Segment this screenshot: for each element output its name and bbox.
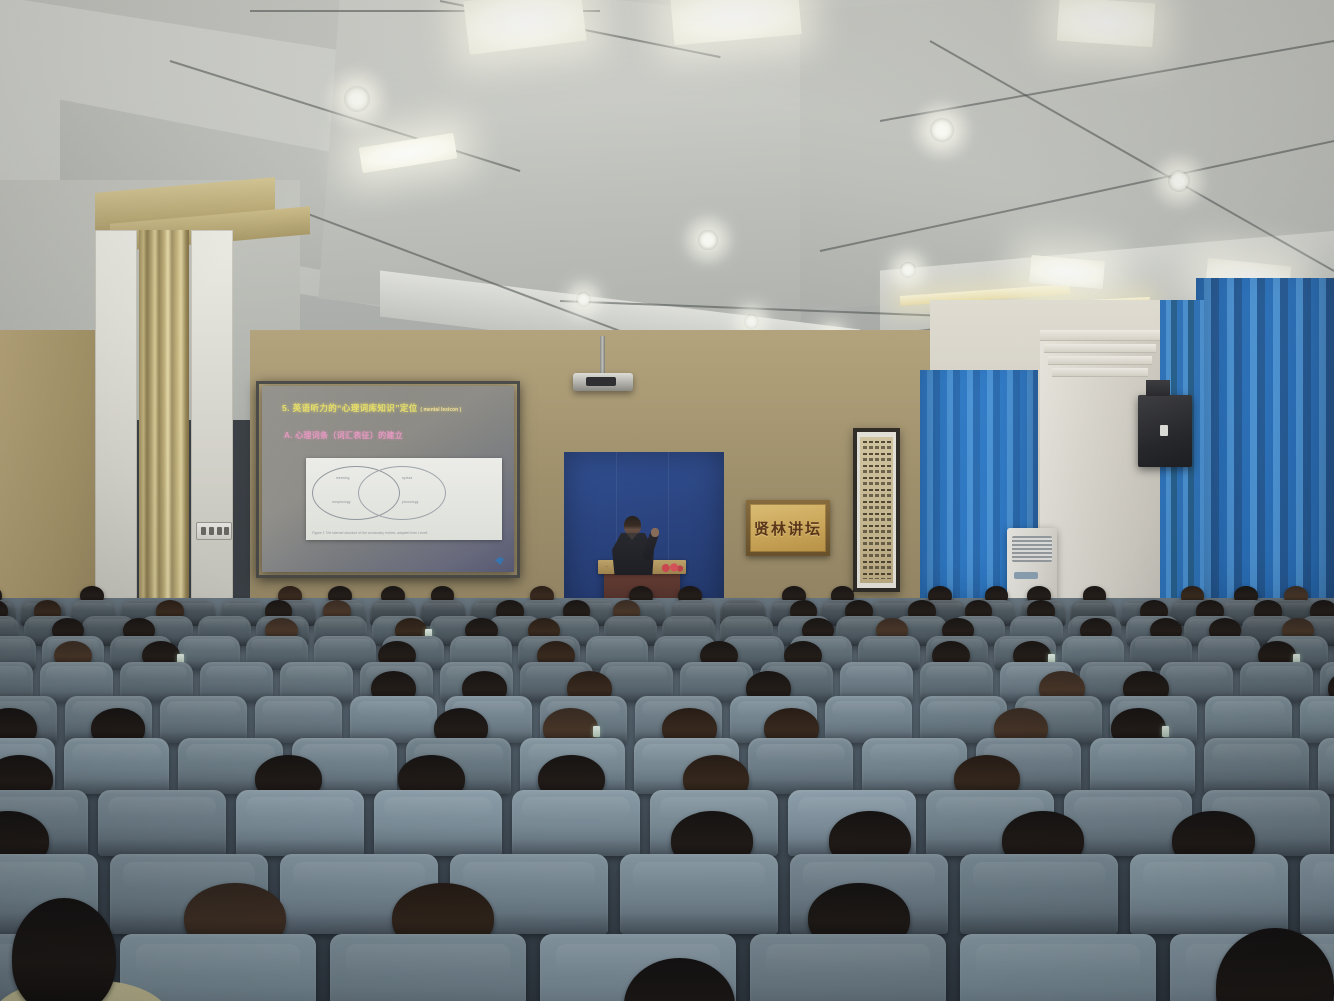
auditorium-seat [960, 934, 1156, 1001]
presenter-hand [651, 528, 659, 537]
scroll-mat [857, 432, 896, 588]
venue-plaque-face: 贤林讲坛 [750, 504, 826, 552]
projector-mount-pole [600, 336, 605, 376]
auditorium-seat [64, 738, 169, 794]
figure-label: meaning [336, 476, 350, 480]
pillar-step [1044, 344, 1156, 353]
audience-phone-screen [1162, 726, 1169, 737]
ceiling-downlight [576, 292, 591, 307]
auditorium-seat [374, 790, 502, 856]
venue-plaque-text: 贤林讲坛 [754, 518, 822, 539]
presenter [606, 516, 666, 574]
auditorium-seat [1318, 738, 1334, 794]
auditorium-seat [512, 790, 640, 856]
audience-phone-screen [593, 726, 600, 737]
speaker-badge [1160, 425, 1168, 436]
ceiling-downlight [744, 314, 759, 329]
wall-speaker [1138, 395, 1192, 467]
auditorium-seat [862, 738, 967, 794]
slide-subtitle: A. 心理词条（词汇表征）的建立 [284, 430, 499, 441]
slide-title-cn: 5. 英语听力的“心理词库知识”定位 [282, 403, 418, 413]
ceiling-projector [573, 373, 633, 391]
figure-label: morphology [332, 500, 351, 504]
slide-title: 5. 英语听力的“心理词库知识”定位 ( mental lexicon ) [282, 402, 502, 414]
auditorium-seat [1300, 854, 1334, 934]
auditorium-seating-area [0, 598, 1334, 1001]
slide-title-en: ( mental lexicon ) [420, 407, 461, 413]
venue-plaque: 贤林讲坛 [746, 500, 830, 556]
auditorium-seat [748, 738, 853, 794]
auditorium-seat [1090, 738, 1195, 794]
lecture-hall-scene: 5. 英语听力的“心理词库知识”定位 ( mental lexicon ) A.… [0, 0, 1334, 1001]
pillar-step [1052, 368, 1148, 377]
pillar-step [1040, 330, 1160, 341]
auditorium-seat [255, 696, 342, 743]
auditorium-seat [1205, 696, 1292, 743]
projector-lens-housing [586, 377, 616, 386]
auditorium-seat [1300, 696, 1334, 743]
auditorium-seat [330, 934, 526, 1001]
figure-label: syntax [402, 476, 412, 480]
ceiling-downlight [930, 118, 954, 142]
auditorium-seat [98, 790, 226, 856]
auditorium-seat [1204, 738, 1309, 794]
auditorium-seat [236, 790, 364, 856]
ceiling-downlight [900, 262, 916, 278]
scroll-paper [860, 437, 893, 583]
auditorium-seat [120, 934, 316, 1001]
ac-vent-grille [1012, 536, 1052, 562]
ceiling-downlight [1168, 170, 1190, 192]
wall-light-switch[interactable] [196, 522, 232, 540]
ceiling-light-panel [1057, 0, 1156, 47]
auditorium-seat [620, 854, 778, 934]
auditorium-seat [350, 696, 437, 743]
projection-screen: 5. 英语听力的“心理词库知识”定位 ( mental lexicon ) A.… [262, 386, 514, 572]
slide-figure: meaning syntax morphology phonology Figu… [306, 458, 502, 540]
auditorium-seat [825, 696, 912, 743]
auditorium-seat [1130, 854, 1288, 934]
auditorium-seat [960, 854, 1118, 934]
auditorium-seat [920, 696, 1007, 743]
ceiling-downlight [698, 230, 718, 250]
ac-display-panel [1014, 572, 1038, 579]
presenter-head [624, 516, 641, 535]
figure-caption: Figure 1 The internal structure of the v… [312, 531, 496, 536]
figure-label: phonology [402, 500, 419, 504]
ceiling-downlight [344, 86, 370, 112]
pillar-step [1048, 356, 1152, 365]
speaker-mount-bracket [1146, 380, 1170, 396]
figure-ellipse-right [358, 466, 446, 520]
chinese-calligraphy-scroll [853, 428, 900, 592]
auditorium-seat [750, 934, 946, 1001]
foreground-attendee-head [12, 898, 116, 1001]
auditorium-seat [160, 696, 247, 743]
